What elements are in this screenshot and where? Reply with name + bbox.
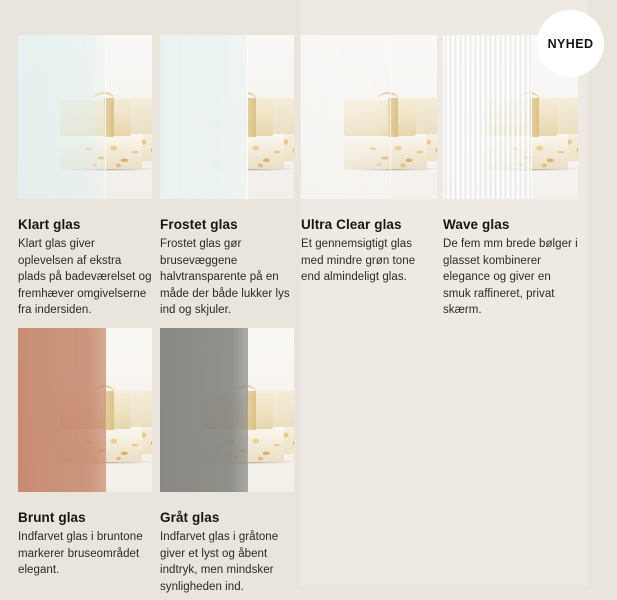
glass-pane-brown-icon [18,328,106,492]
glass-options-gallery: Klart glas Klart glas giver oplevelsen a… [0,0,617,600]
card-caption: Brunt glas Indfarvet glas i bruntone mar… [18,510,152,579]
card-image-klart-glas [18,35,152,199]
card-caption: Wave glas De fem mm brede bølger i glass… [443,217,578,319]
card-description: Klart glas giver oplevelsen af ekstra pl… [18,236,152,319]
glass-pane-ultra-clear-icon [301,35,391,199]
card-caption: Ultra Clear glas Et gennemsigtigt glas m… [301,217,437,286]
card-description: De fem mm brede bølger i glasset kombine… [443,236,578,319]
card-title: Klart glas [18,217,152,232]
card-title: Ultra Clear glas [301,217,437,232]
card-title: Wave glas [443,217,578,232]
card-title: Gråt glas [160,510,294,525]
glass-option-card-ultra-clear-glas[interactable]: Ultra Clear glas Et gennemsigtigt glas m… [301,35,437,286]
card-image-ultra-clear-glas [301,35,437,199]
card-title: Frostet glas [160,217,294,232]
glass-option-card-graat-glas[interactable]: Gråt glas Indfarvet glas i gråtone giver… [160,328,294,595]
card-caption: Frostet glas Frostet glas gør brusevægge… [160,217,294,319]
card-description: Frostet glas gør brusevæggene halvtransp… [160,236,294,319]
card-description: Indfarvet glas i gråtone giver et lyst o… [160,529,294,595]
card-caption: Gråt glas Indfarvet glas i gråtone giver… [160,510,294,595]
glass-option-card-frostet-glas[interactable]: Frostet glas Frostet glas gør brusevægge… [160,35,294,319]
glass-option-card-brunt-glas[interactable]: Brunt glas Indfarvet glas i bruntone mar… [18,328,152,579]
nyhed-badge-label: NYHED [548,37,594,51]
glass-pane-clear-icon [18,35,106,199]
card-caption: Klart glas Klart glas giver oplevelsen a… [18,217,152,319]
card-description: Et gennemsigtigt glas med mindre grøn to… [301,236,437,286]
frost-veil [160,35,247,199]
glass-option-card-wave-glas[interactable]: Wave glas De fem mm brede bølger i glass… [443,35,578,319]
glass-pane-grey-icon [160,328,248,492]
nyhed-badge: NYHED [537,10,604,77]
glass-pane-wave-icon [443,35,532,199]
card-title: Brunt glas [18,510,152,525]
card-image-graat-glas [160,328,294,492]
card-image-frostet-glas [160,35,294,199]
card-image-brunt-glas [18,328,152,492]
glass-option-card-klart-glas[interactable]: Klart glas Klart glas giver oplevelsen a… [18,35,152,319]
glass-pane-frosted-icon [160,35,248,199]
card-description: Indfarvet glas i bruntone markerer bruse… [18,529,152,579]
